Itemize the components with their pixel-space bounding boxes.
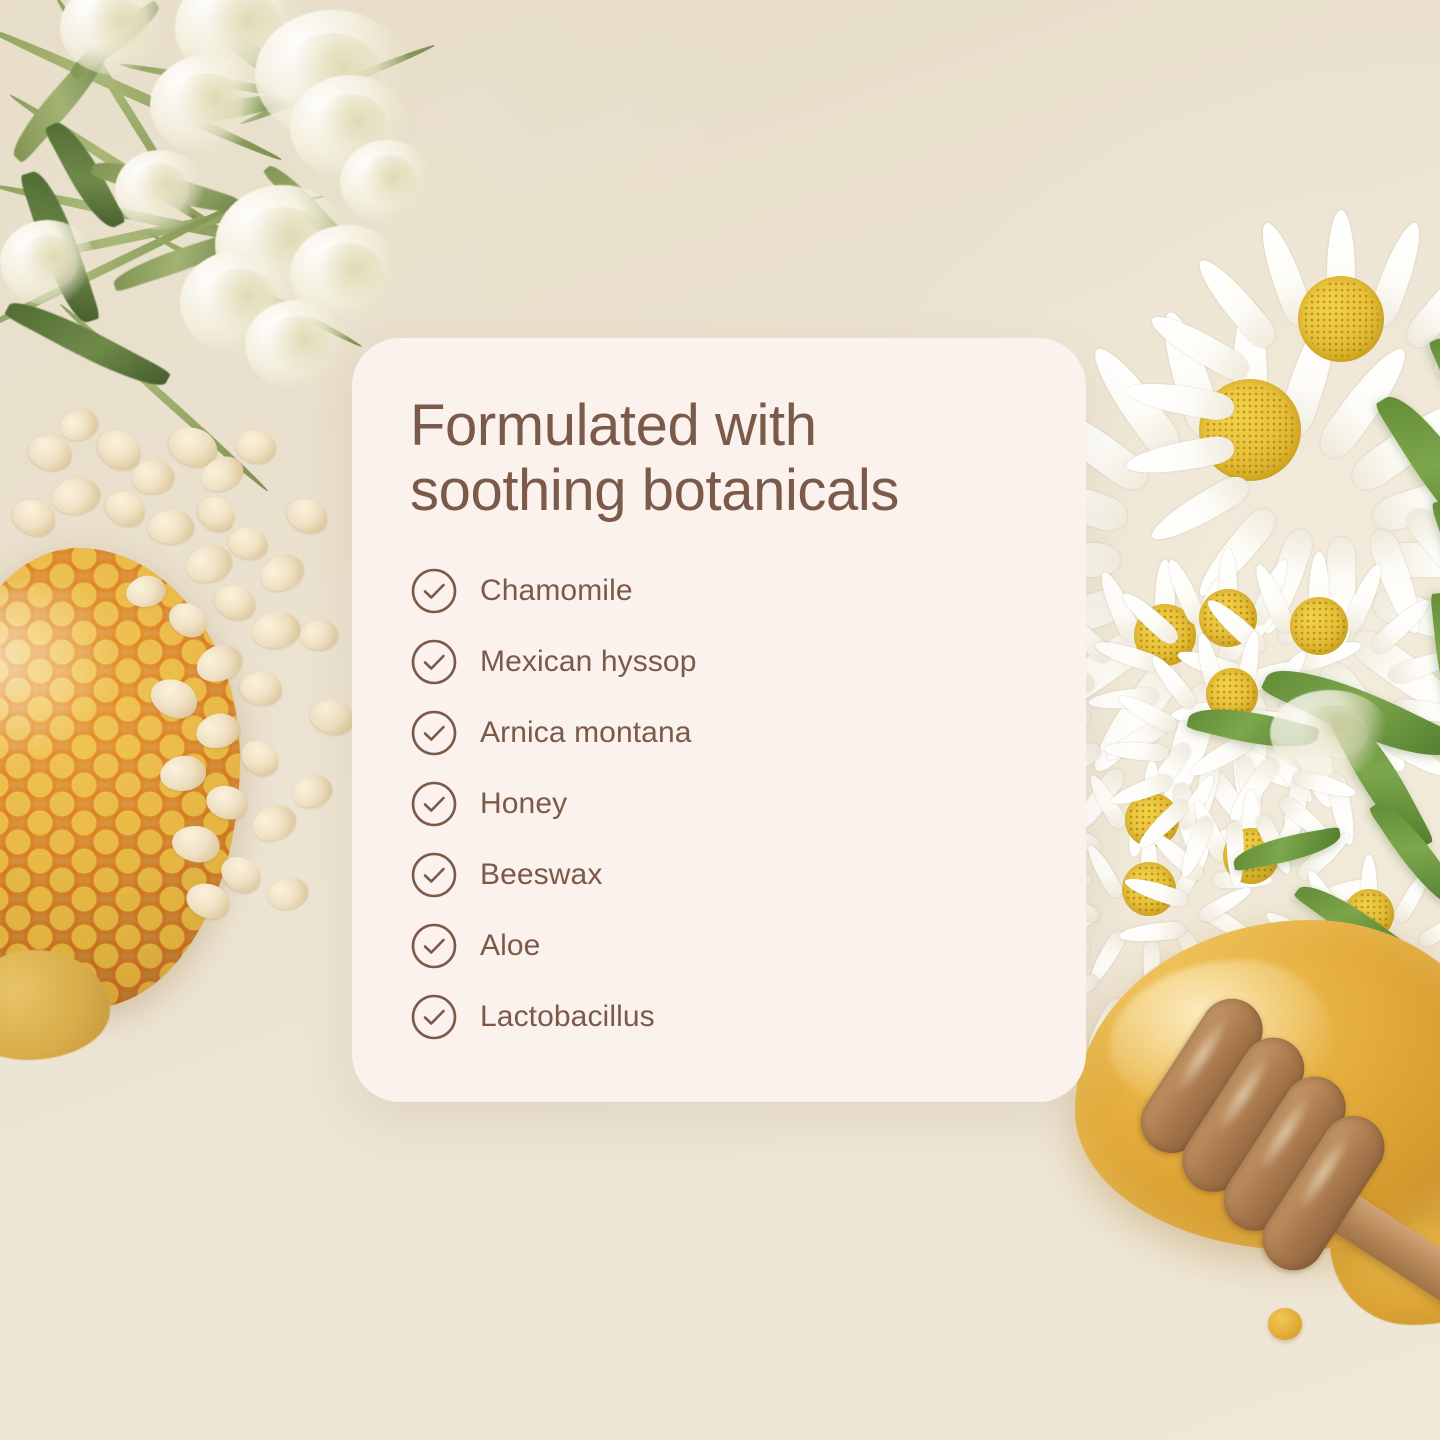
chamomile-flower-small-8 bbox=[1168, 630, 1296, 758]
chamomile-flower-small-1 bbox=[1090, 560, 1240, 710]
list-item: Aloe bbox=[410, 911, 1028, 982]
ingredient-label: Beeswax bbox=[480, 860, 602, 890]
honey-droplet bbox=[1268, 1308, 1302, 1340]
check-circle-icon bbox=[410, 567, 458, 615]
check-circle-icon bbox=[410, 922, 458, 970]
daisy-flower-upper-right bbox=[1232, 210, 1440, 428]
honeycomb-slab bbox=[0, 548, 240, 1008]
ingredient-label: Mexican hyssop bbox=[480, 647, 697, 677]
product-ingredient-graphic: Formulated with soothing botanicals Cham… bbox=[0, 0, 1440, 1440]
chamomile-flower-small-5 bbox=[1090, 830, 1208, 948]
honey-dipper-head bbox=[1125, 987, 1416, 1263]
list-item: Mexican hyssop bbox=[410, 627, 1028, 698]
chamomile-flower-small-6 bbox=[1185, 790, 1317, 922]
list-item: Beeswax bbox=[410, 840, 1028, 911]
daisy-flower-large bbox=[1120, 300, 1380, 560]
card-title: Formulated with soothing botanicals bbox=[410, 394, 1028, 524]
list-item: Honey bbox=[410, 769, 1028, 840]
list-item: Chamomile bbox=[410, 556, 1028, 627]
chamomile-flower-small-7 bbox=[1310, 855, 1428, 973]
check-circle-icon bbox=[410, 993, 458, 1041]
chamomile-flower-small-4 bbox=[1092, 760, 1212, 880]
honey-dipper-handle bbox=[1298, 1172, 1440, 1323]
check-circle-icon bbox=[410, 780, 458, 828]
check-circle-icon bbox=[410, 638, 458, 686]
honey-pool bbox=[1075, 920, 1440, 1250]
ingredient-label: Arnica montana bbox=[480, 718, 692, 748]
ingredient-label: Chamomile bbox=[480, 576, 633, 606]
chamomile-flower-small-2 bbox=[1158, 548, 1298, 688]
ingredient-label: Honey bbox=[480, 789, 567, 819]
ingredient-label: Aloe bbox=[480, 931, 540, 961]
honeycomb-drip bbox=[0, 950, 110, 1060]
check-circle-icon bbox=[410, 709, 458, 757]
ingredient-list: Chamomile Mexican hyssop Arnica montana bbox=[410, 556, 1028, 1053]
ingredients-card: Formulated with soothing botanicals Cham… bbox=[352, 338, 1086, 1102]
chamomile-flower-small-3 bbox=[1245, 552, 1393, 700]
honey-pool-tail bbox=[1330, 1175, 1440, 1325]
ingredient-label: Lactobacillus bbox=[480, 1002, 655, 1032]
check-circle-icon bbox=[410, 851, 458, 899]
list-item: Arnica montana bbox=[410, 698, 1028, 769]
list-item: Lactobacillus bbox=[410, 982, 1028, 1053]
